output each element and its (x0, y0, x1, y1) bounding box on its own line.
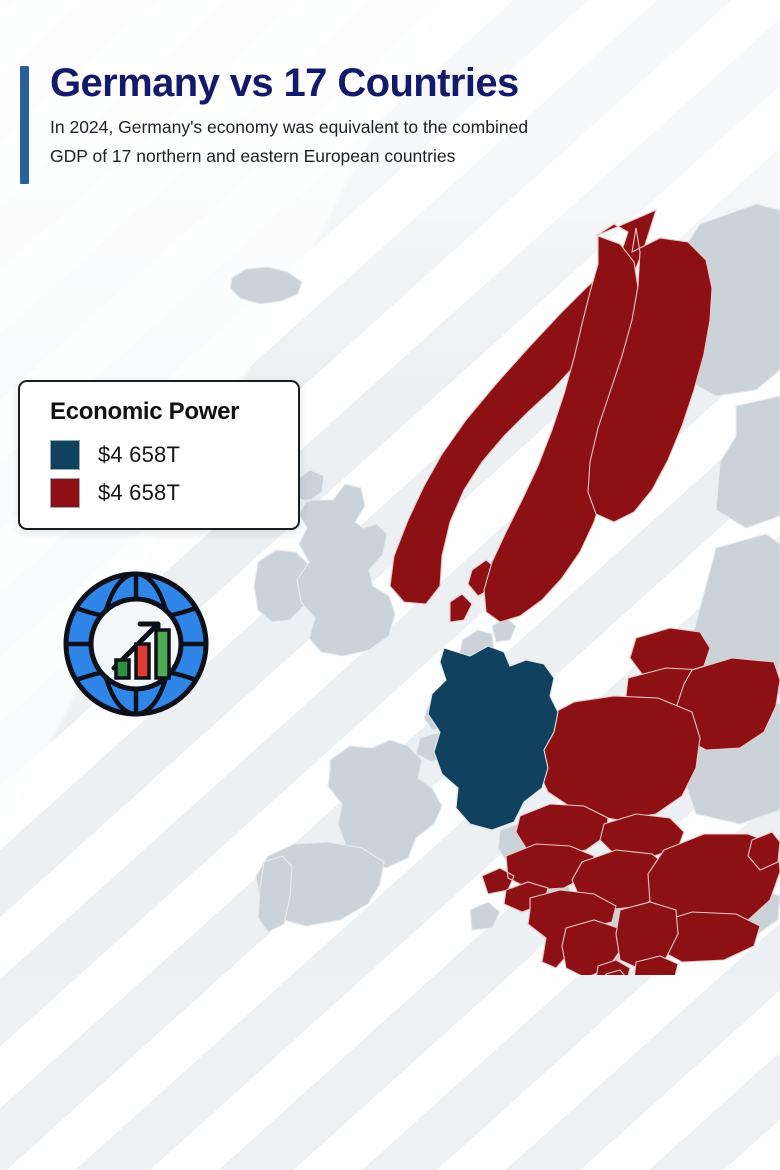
legend-item-countries: $4 658T (50, 478, 278, 508)
legend-item-germany: $4 658T (50, 440, 278, 470)
country-germany (428, 646, 558, 830)
map-blue-countries (428, 646, 558, 830)
country-iceland (230, 267, 302, 304)
country-united-kingdom (294, 470, 395, 656)
legend-swatch-red (50, 478, 80, 508)
subtitle-line-1: In 2024, Germany's economy was equivalen… (50, 117, 528, 137)
page-title: Germany vs 17 Countries (50, 62, 740, 104)
flag-stripe-red (748, 0, 780, 150)
subtitle-line-2: GDP of 17 northern and eastern European … (50, 142, 745, 171)
legend-panel: Economic Power $4 658T $4 658T (18, 380, 300, 530)
country-poland (534, 696, 700, 820)
legend-title: Economic Power (50, 398, 278, 426)
legend-swatch-blue (50, 440, 80, 470)
page-subtitle: In 2024, Germany's economy was equivalen… (50, 113, 745, 171)
header: Germany vs 17 Countries In 2024, Germany… (20, 62, 740, 171)
header-accent-bar (20, 66, 29, 184)
legend-label-germany: $4 658T (98, 442, 180, 468)
legend-label-countries: $4 658T (98, 480, 180, 506)
europe-choropleth-map (0, 150, 780, 975)
globe-growth-chart-icon (62, 570, 210, 718)
